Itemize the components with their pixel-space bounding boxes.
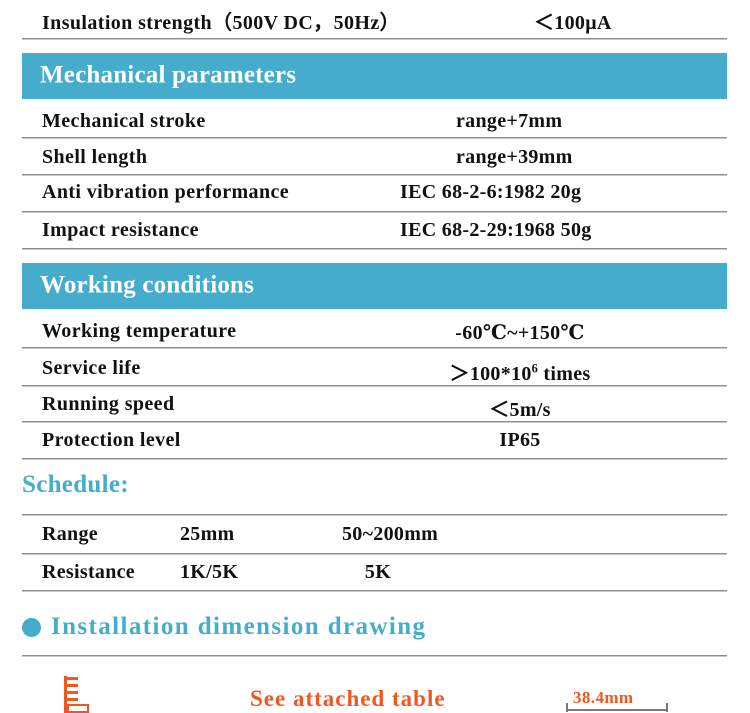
- part-hatch-line: [64, 677, 78, 680]
- spec-label-anti-vibration-performance: Anti vibration performance: [42, 181, 289, 204]
- part-body-outline: [67, 704, 89, 713]
- section-header-working-conditions: Working conditions: [22, 263, 727, 309]
- schedule-cell-resistance-col3: 5K: [365, 561, 391, 584]
- row-divider: [22, 421, 727, 423]
- section-title-working-conditions: Working conditions: [40, 271, 254, 299]
- spec-label-insulation-strength: Insulation strength（500V DC，50Hz）: [42, 6, 400, 35]
- section-header-mechanical-parameters: Mechanical parameters: [22, 53, 727, 99]
- service-life-suffix: times: [538, 363, 590, 385]
- spec-value-mechanical-stroke: range+7mm: [456, 110, 562, 133]
- spec-label-working-temperature: Working temperature: [42, 320, 236, 343]
- spec-value-insulation-strength: ＜100μA: [534, 6, 612, 35]
- spec-value-running-speed: ＜5m/s: [489, 393, 551, 422]
- row-divider: [22, 38, 727, 40]
- schedule-cell-range-col2: 25mm: [180, 523, 235, 546]
- spec-label-mechanical-stroke: Mechanical stroke: [42, 110, 206, 133]
- row-divider: [22, 174, 727, 176]
- spec-label-running-speed: Running speed: [42, 393, 174, 416]
- section-title-mechanical-parameters: Mechanical parameters: [40, 61, 296, 89]
- schedule-row-label-range: Range: [42, 523, 98, 546]
- dimension-tick-left: [566, 703, 568, 712]
- spec-value-anti-vibration-performance: IEC 68-2-6:1982 20g: [400, 181, 581, 204]
- schedule-title: Schedule:: [22, 471, 129, 499]
- spec-value-shell-length: range+39mm: [456, 146, 573, 169]
- row-divider: [22, 514, 727, 516]
- spec-label-service-life: Service life: [42, 357, 141, 380]
- dimension-line: [566, 709, 668, 711]
- spec-value-protection-level: IP65: [499, 429, 540, 452]
- row-divider: [22, 211, 727, 213]
- row-divider: [22, 553, 727, 555]
- spec-label-protection-level: Protection level: [42, 429, 181, 452]
- part-hatch-line: [64, 684, 78, 687]
- row-divider: [22, 347, 727, 349]
- see-attached-table-note: See attached table: [250, 686, 446, 712]
- row-divider: [22, 458, 727, 460]
- installation-title: Installation dimension drawing: [51, 613, 426, 641]
- schedule-row-label-resistance: Resistance: [42, 561, 135, 584]
- spec-sheet-page: Insulation strength（500V DC，50Hz） ＜100μA…: [0, 0, 750, 713]
- schedule-cell-range-col3: 50~200mm: [342, 523, 438, 546]
- row-divider: [22, 137, 727, 139]
- section-divider: [22, 655, 727, 657]
- service-life-prefix: ＞100*10: [450, 363, 532, 385]
- bullet-dot-icon: [22, 618, 41, 637]
- dimension-tick-right: [666, 703, 668, 712]
- schedule-cell-resistance-col2: 1K/5K: [180, 561, 238, 584]
- part-drawing-fragment: [64, 676, 90, 713]
- spec-value-service-life: ＞100*106 times: [450, 357, 591, 386]
- row-divider: [22, 248, 727, 250]
- installation-heading: Installation dimension drawing: [22, 613, 426, 641]
- spec-value-working-temperature: -60℃~+150℃: [455, 320, 584, 345]
- row-divider: [22, 385, 727, 387]
- spec-label-impact-resistance: Impact resistance: [42, 219, 199, 242]
- row-divider: [22, 590, 727, 592]
- spec-label-shell-length: Shell length: [42, 146, 147, 169]
- dimension-label-38-4mm: 38.4mm: [573, 688, 633, 708]
- part-hatch-line: [64, 691, 78, 694]
- spec-value-impact-resistance: IEC 68-2-29:1968 50g: [400, 219, 592, 242]
- part-hatch-line: [64, 698, 78, 701]
